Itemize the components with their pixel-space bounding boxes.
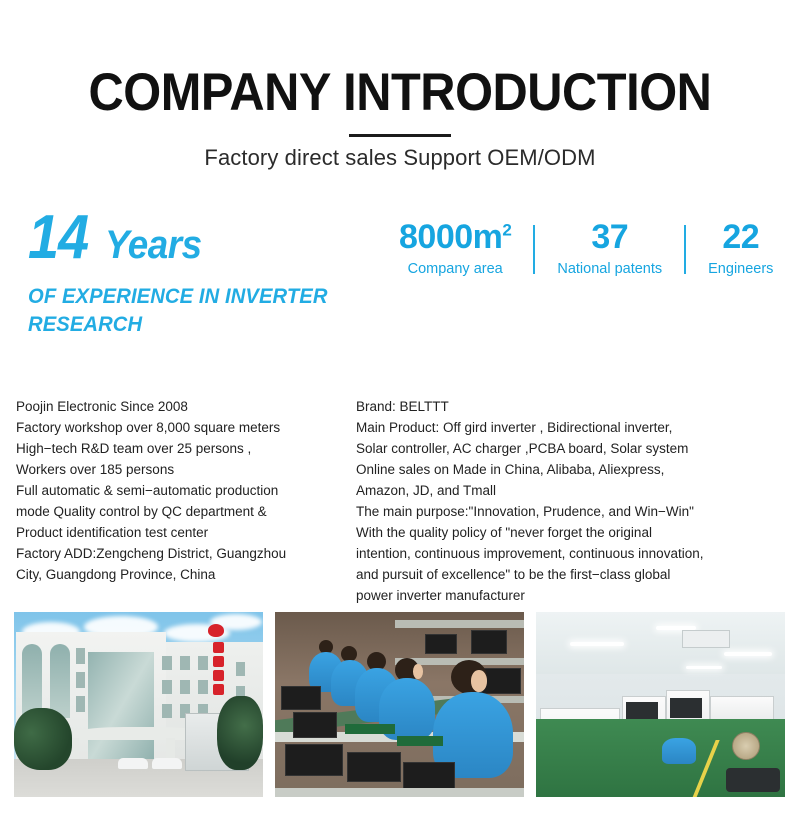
arched-window xyxy=(22,644,42,718)
photo-strip: Gdsm xyxy=(14,612,786,797)
sign-character xyxy=(213,656,224,667)
years-description: OF EXPERIENCE IN INVERTER RESEARCH xyxy=(28,282,329,339)
window xyxy=(162,704,172,718)
stat-national-patents: 37 National patents xyxy=(535,219,684,278)
product-tray xyxy=(285,744,343,776)
circuit-board xyxy=(397,736,443,746)
stat-label: Engineers xyxy=(708,261,773,278)
worker-face xyxy=(413,664,423,679)
glass-curtain-wall xyxy=(88,652,154,762)
stat-engineers: 22 Engineers xyxy=(686,219,795,278)
window xyxy=(198,656,208,670)
machine-monitor xyxy=(670,698,702,718)
window xyxy=(180,680,190,694)
info-columns: Poojin Electronic Since 2008 Factory wor… xyxy=(0,396,800,606)
window xyxy=(162,680,172,694)
window xyxy=(236,662,245,676)
right-info-column: Brand: BELTTT Main Product: Off gird inv… xyxy=(356,396,800,606)
sign-character xyxy=(213,670,224,681)
product-tray xyxy=(293,712,337,738)
stat-number: 22 xyxy=(722,218,759,256)
product-tray xyxy=(347,752,401,782)
stat-value: 22 xyxy=(722,219,759,256)
parts-bin xyxy=(471,630,507,654)
page-subtitle: Factory direct sales Support OEM/ODM xyxy=(0,145,800,171)
company-facts-text: Poojin Electronic Since 2008 Factory wor… xyxy=(16,396,356,585)
ceiling-light xyxy=(570,642,624,646)
title-divider xyxy=(349,134,451,137)
window xyxy=(198,680,208,694)
years-highlight: 14 Years OF EXPERIENCE IN INVERTER RESEA… xyxy=(28,209,368,339)
product-tray xyxy=(281,686,321,710)
stat-label: National patents xyxy=(557,261,662,278)
sign-character xyxy=(213,684,224,695)
circuit-board xyxy=(345,724,395,734)
stat-company-area: 8000m2 Company area xyxy=(395,219,533,278)
window xyxy=(180,656,190,670)
component-reel xyxy=(732,732,760,760)
ac-vent-icon xyxy=(682,630,730,648)
worker-figure xyxy=(662,738,696,764)
stat-superscript: 2 xyxy=(502,221,511,240)
brand-products-text: Brand: BELTTT Main Product: Off gird inv… xyxy=(356,396,800,606)
stat-value: 37 xyxy=(591,219,628,256)
parts-bin xyxy=(425,634,457,654)
left-info-column: Poojin Electronic Since 2008 Factory wor… xyxy=(0,396,356,606)
window xyxy=(76,672,85,688)
tree-foliage xyxy=(217,696,263,770)
window xyxy=(76,696,85,712)
ceiling-light xyxy=(686,666,722,669)
stat-number: 8000m xyxy=(399,218,502,256)
page-header: COMPANY INTRODUCTION Factory direct sale… xyxy=(0,0,800,171)
stats-row: 8000m2 Company area 37 National patents … xyxy=(395,219,795,278)
ceiling-light xyxy=(724,652,772,656)
photo-factory-building xyxy=(14,612,263,797)
photo-assembly-line xyxy=(275,612,524,797)
window xyxy=(162,656,172,670)
photo-smt-room: Gdsm xyxy=(536,612,785,797)
highlight-band: 14 Years OF EXPERIENCE IN INVERTER RESEA… xyxy=(0,209,800,374)
stat-label: Company area xyxy=(408,261,503,278)
years-line: 14 Years xyxy=(28,209,368,268)
company-logo-icon xyxy=(208,624,224,637)
years-unit: Years xyxy=(105,225,202,265)
equipment-case xyxy=(726,768,780,792)
tree-foliage xyxy=(14,708,72,770)
parked-car xyxy=(118,758,148,769)
worker-face xyxy=(471,670,487,692)
parked-car xyxy=(152,758,182,769)
work-bench xyxy=(275,788,524,797)
stat-number: 37 xyxy=(591,218,628,256)
years-number: 14 xyxy=(28,209,88,268)
window xyxy=(76,648,85,664)
arched-window xyxy=(50,644,70,718)
building-sign xyxy=(210,640,226,700)
page-title: COMPANY INTRODUCTION xyxy=(32,66,768,120)
storage-shelf xyxy=(395,620,524,628)
stat-value: 8000m2 xyxy=(399,219,511,256)
sign-character xyxy=(213,642,224,653)
